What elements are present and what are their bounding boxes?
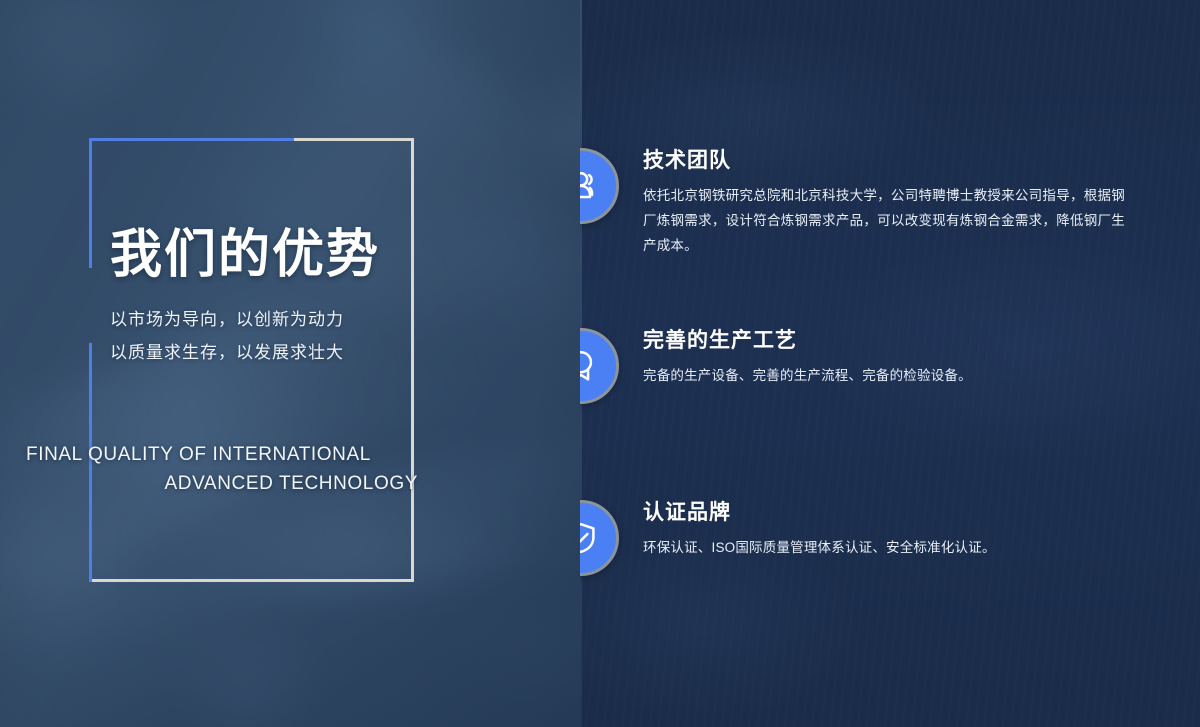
feature-description: 完备的生产设备、完善的生产流程、完备的检验设备。: [643, 363, 1125, 388]
slogan-block: 以市场为导向，以创新为动力 以质量求生存，以发展求壮大: [110, 303, 440, 369]
frame-edge-bottom: [89, 579, 414, 582]
frame-edge-left-upper: [89, 138, 92, 268]
page-title: 我们的优势: [110, 228, 450, 283]
feature-description: 依托北京钢铁研究总院和北京科技大学，公司特聘博士教授来公司指导，根据钢厂炼钢需求…: [643, 183, 1125, 258]
feature-description: 环保认证、ISO国际质量管理体系认证、安全标准化认证。: [643, 535, 1125, 560]
feature-text: 完善的生产工艺 完备的生产设备、完善的生产流程、完备的检验设备。: [643, 328, 1125, 388]
feature-title: 技术团队: [643, 148, 1125, 174]
feature-title: 认证品牌: [643, 500, 1125, 526]
frame-edge-top-light: [294, 138, 414, 141]
feature-text: 技术团队 依托北京钢铁研究总院和北京科技大学，公司特聘博士教授来公司指导，根据钢…: [643, 148, 1125, 258]
slogan-line-1: 以市场为导向，以创新为动力: [110, 303, 440, 336]
frame-edge-top-accent: [89, 138, 294, 141]
feature-title: 完善的生产工艺: [643, 328, 1125, 354]
right-features-panel: 技术团队 依托北京钢铁研究总院和北京科技大学，公司特聘博士教授来公司指导，根据钢…: [580, 0, 1200, 727]
english-tagline-line-2: ADVANCED TECHNOLOGY: [26, 469, 418, 498]
left-hero-panel: 我们的优势 以市场为导向，以创新为动力 以质量求生存，以发展求壮大 FINAL …: [0, 0, 580, 727]
feature-text: 认证品牌 环保认证、ISO国际质量管理体系认证、安全标准化认证。: [643, 500, 1125, 560]
slide-root: 我们的优势 以市场为导向，以创新为动力 以质量求生存，以发展求壮大 FINAL …: [0, 0, 1200, 727]
english-tagline-line-1: FINAL QUALITY OF INTERNATIONAL: [26, 440, 418, 469]
english-tagline: FINAL QUALITY OF INTERNATIONAL ADVANCED …: [26, 440, 418, 498]
slogan-line-2: 以质量求生存，以发展求壮大: [110, 336, 440, 369]
